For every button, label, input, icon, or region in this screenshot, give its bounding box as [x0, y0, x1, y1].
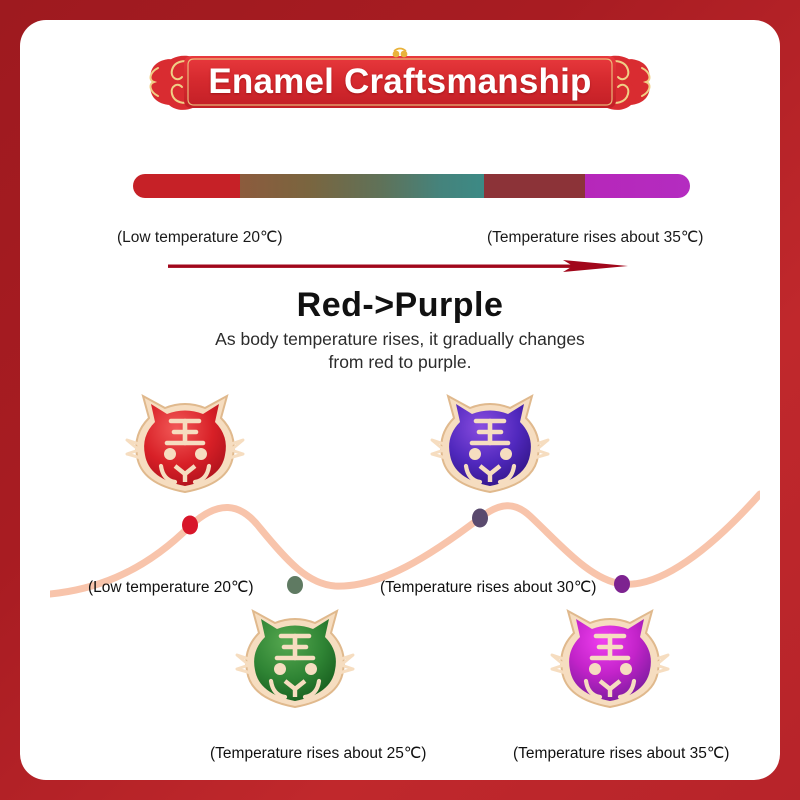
gradient-segment-maroon	[484, 174, 585, 198]
sub-heading-line-2: from red to purple.	[329, 352, 472, 372]
tiger-eye-right	[305, 663, 317, 675]
wave-caption-30c: (Temperature rises about 30℃)	[380, 578, 596, 597]
tiger-pin-blue-purple[interactable]	[430, 388, 550, 504]
tiger-eye-left	[274, 663, 286, 675]
dot-purple-icon	[472, 509, 488, 528]
tiger-head-shape	[552, 611, 668, 707]
gradient-segment-red	[133, 174, 240, 198]
tiger-head-shape	[127, 396, 243, 492]
wave-caption-25c: (Temperature rises about 25℃)	[210, 744, 426, 763]
tiger-pin-green[interactable]	[235, 603, 355, 719]
main-heading: Red->Purple	[0, 286, 800, 325]
tiger-eye-left	[589, 663, 601, 675]
tiger-pin-magenta-graphic	[550, 603, 670, 719]
tiger-eye-right	[620, 663, 632, 675]
tiger-eye-left	[164, 448, 176, 460]
sub-heading-line-1: As body temperature rises, it gradually …	[215, 329, 585, 349]
dot-magenta-icon	[614, 575, 630, 593]
product-infographic: Enamel Craftsmanship (Low temperature 20…	[0, 0, 800, 800]
tiger-pin-blue-purple-graphic	[430, 388, 550, 504]
gradient-segment-purple	[585, 174, 690, 198]
dot-green-icon	[287, 576, 303, 594]
wave-caption-20c: (Low temperature 20℃)	[88, 578, 254, 597]
temperature-gradient-bar	[133, 174, 690, 198]
tiger-eye-right	[195, 448, 207, 460]
gradient-bar-caption-right: (Temperature rises about 35℃)	[487, 228, 703, 247]
tiger-pin-magenta[interactable]	[550, 603, 670, 719]
gradient-segment-middle	[240, 174, 484, 198]
sub-heading: As body temperature rises, it gradually …	[0, 328, 800, 374]
tiger-head-shape	[432, 396, 548, 492]
tiger-head-shape	[237, 611, 353, 707]
temperature-direction-arrow-icon	[168, 254, 628, 278]
title-banner: Enamel Craftsmanship	[130, 40, 670, 124]
page-title: Enamel Craftsmanship	[130, 40, 670, 124]
tiger-pin-red-graphic	[125, 388, 245, 504]
gradient-bar-caption-left: (Low temperature 20℃)	[117, 228, 283, 247]
tiger-eye-right	[500, 448, 512, 460]
wave-caption-35c: (Temperature rises about 35℃)	[513, 744, 729, 763]
dot-red-icon	[182, 516, 198, 535]
tiger-pin-green-graphic	[235, 603, 355, 719]
tiger-pin-red[interactable]	[125, 388, 245, 504]
tiger-eye-left	[469, 448, 481, 460]
